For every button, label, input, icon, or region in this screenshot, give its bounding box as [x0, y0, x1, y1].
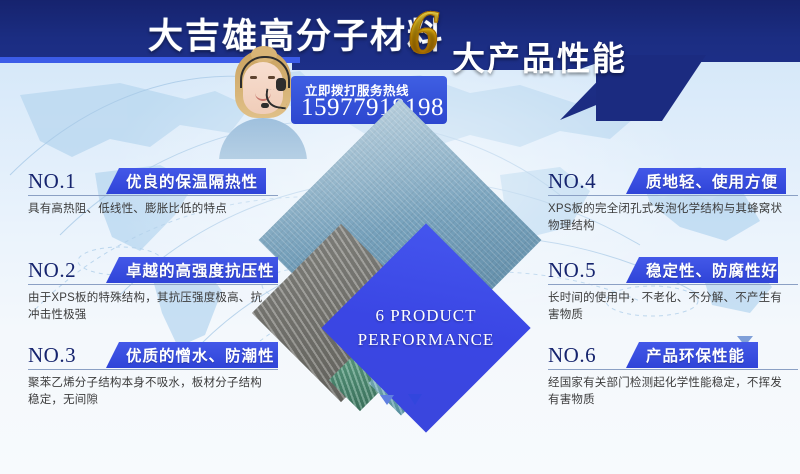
- feature-4-number: NO.4: [548, 168, 596, 194]
- feature-item-1: NO.1 优良的保温隔热性 具有高热阻、低线性、膨胀比低的特点: [28, 168, 278, 195]
- feature-item-2: NO.2 卓越的高强度抗压性 由于XPS板的特殊结构，其抗压强度极高、抗冲击性极…: [28, 257, 278, 284]
- diamond-headline-text: 6 PRODUCT PERFORMANCE: [352, 254, 500, 402]
- feature-6-title-bar: 产品环保性能: [626, 342, 758, 368]
- feature-2-title-bar: 卓越的高强度抗压性: [106, 257, 278, 283]
- feature-3-head: NO.3 优质的憎水、防潮性: [28, 342, 278, 369]
- feature-1-head: NO.1 优良的保温隔热性: [28, 168, 278, 195]
- feature-3-title-bar: 优质的憎水、防潮性: [106, 342, 278, 368]
- feature-1-number: NO.1: [28, 168, 76, 194]
- feature-6-title: 产品环保性能: [626, 344, 745, 366]
- hotline-number[interactable]: 15977918198: [301, 94, 444, 122]
- feature-6-rule: [548, 369, 798, 370]
- page-title-suffix: 大产品性能: [452, 32, 627, 80]
- chevron-down-icon: [408, 394, 422, 405]
- feature-1-title-bar: 优良的保温隔热性: [106, 168, 266, 194]
- feature-4-title-bar: 质地轻、使用方便: [626, 168, 786, 194]
- feature-5-rule: [548, 284, 798, 285]
- feature-item-3: NO.3 优质的憎水、防潮性 聚苯乙烯分子结构本身不吸水，板材分子结构稳定，无间…: [28, 342, 278, 369]
- feature-item-5: NO.5 稳定性、防腐性好 长时间的使用中，不老化、不分解、不产生有害物质: [548, 257, 798, 284]
- feature-item-6: NO.6 产品环保性能 经国家有关部门检测起化学性能稳定，不挥发有害物质: [548, 342, 798, 369]
- feature-6-description: 经国家有关部门检测起化学性能稳定，不挥发有害物质: [548, 375, 792, 409]
- feature-1-rule: [28, 195, 278, 196]
- headset-earcup: [276, 78, 286, 91]
- feature-6-number: NO.6: [548, 342, 596, 368]
- feature-6-head: NO.6 产品环保性能: [548, 342, 798, 369]
- feature-5-head: NO.5 稳定性、防腐性好: [548, 257, 798, 284]
- feature-2-description: 由于XPS板的特殊结构，其抗压强度极高、抗冲击性极强: [28, 290, 272, 324]
- feature-1-title: 优良的保温隔热性: [106, 170, 258, 192]
- feature-5-title: 稳定性、防腐性好: [626, 259, 778, 281]
- headset-mic: [261, 103, 269, 108]
- feature-2-title: 卓越的高强度抗压性: [106, 259, 275, 281]
- feature-4-title: 质地轻、使用方便: [626, 170, 778, 192]
- feature-5-title-bar: 稳定性、防腐性好: [626, 257, 778, 283]
- feature-3-number: NO.3: [28, 342, 76, 368]
- feature-3-rule: [28, 369, 278, 370]
- feature-4-rule: [548, 195, 798, 196]
- feature-5-description: 长时间的使用中，不老化、不分解、不产生有害物质: [548, 290, 792, 324]
- promo-banner: 大吉雄高分子材料 6 大产品性能 立即拨打服务热线 15977918198 6 …: [0, 0, 800, 474]
- feature-2-head: NO.2 卓越的高强度抗压性: [28, 257, 278, 284]
- feature-2-number: NO.2: [28, 257, 76, 283]
- headline-line-2: PERFORMANCE: [358, 330, 495, 350]
- feature-4-description: XPS板的完全闭孔式发泡化学结构与其蜂窝状物理结构: [548, 201, 792, 235]
- headline-line-1: 6 PRODUCT: [375, 306, 476, 326]
- feature-3-title: 优质的憎水、防潮性: [106, 344, 275, 366]
- feature-2-rule: [28, 284, 278, 285]
- chevron-down-icon: [380, 395, 394, 405]
- feature-3-description: 聚苯乙烯分子结构本身不吸水，板材分子结构稳定，无间隙: [28, 375, 272, 409]
- feature-5-number: NO.5: [548, 257, 596, 283]
- hotline-box[interactable]: 立即拨打服务热线 15977918198: [291, 76, 447, 124]
- feature-4-head: NO.4 质地轻、使用方便: [548, 168, 798, 195]
- feature-item-4: NO.4 质地轻、使用方便 XPS板的完全闭孔式发泡化学结构与其蜂窝状物理结构: [548, 168, 798, 195]
- title-number-six: 6: [408, 2, 439, 64]
- center-diamond-graphic: 6 PRODUCT PERFORMANCE: [286, 132, 522, 422]
- feature-1-description: 具有高热阻、低线性、膨胀比低的特点: [28, 201, 272, 218]
